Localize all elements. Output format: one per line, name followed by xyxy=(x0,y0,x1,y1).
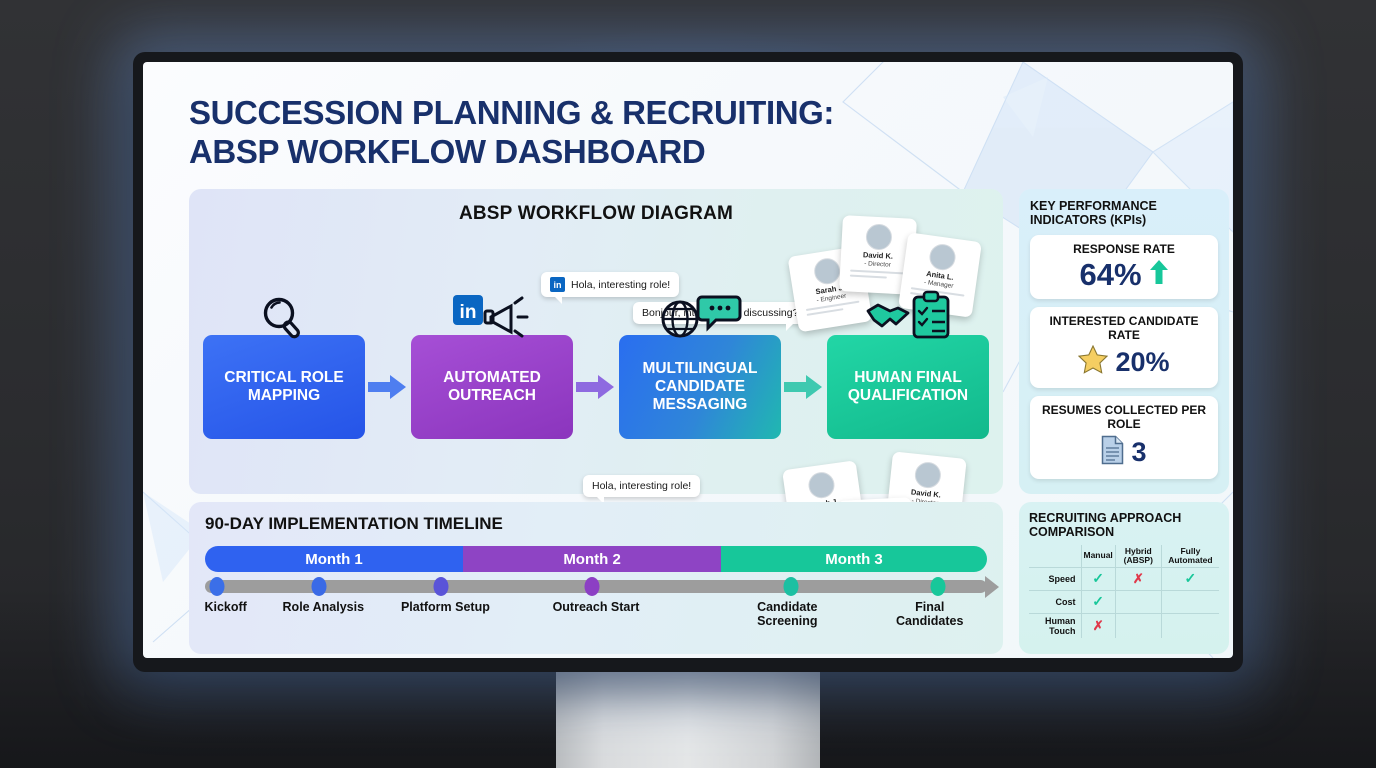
timeline-month-1: Month 1 xyxy=(205,546,463,572)
kpi-value: 3 xyxy=(1131,439,1146,466)
divider xyxy=(850,275,887,279)
row-header-cost: Cost xyxy=(1029,591,1081,614)
magnifier-icon xyxy=(258,295,310,346)
page-title: SUCCESSION PLANNING & RECRUITING: ABSP W… xyxy=(189,94,1029,171)
avatar xyxy=(914,461,943,490)
cross-icon: ✗ xyxy=(1093,618,1104,633)
corner-cell xyxy=(1029,545,1081,568)
kpi-value: 64% xyxy=(1079,259,1141,290)
timeline-milestone-dot[interactable] xyxy=(210,577,225,596)
comparison-panel: RECRUITING APPROACH COMPARISON Manual Hy… xyxy=(1019,502,1229,654)
comparison-heading: RECRUITING APPROACH COMPARISON xyxy=(1029,511,1219,540)
timeline-milestone-dot[interactable] xyxy=(584,577,599,596)
kpi-label: INTERESTED CANDIDATE RATE xyxy=(1036,314,1212,342)
kpi-card-interested-candidate-rate: INTERESTED CANDIDATE RATE 20% xyxy=(1030,307,1218,388)
timeline-month-2: Month 2 xyxy=(463,546,721,572)
cell-human-hybrid xyxy=(1115,614,1161,639)
cell-speed-hybrid: ✗ xyxy=(1115,568,1161,591)
kpi-value-row: 3 xyxy=(1036,435,1212,470)
timeline-month-label: Month 1 xyxy=(305,551,363,568)
kpi-value-row: 64% xyxy=(1036,259,1212,290)
timeline-milestone-dot[interactable] xyxy=(784,577,799,596)
avatar xyxy=(928,242,957,271)
kpi-value-row: 20% xyxy=(1036,345,1212,379)
workflow-step-multilingual-candidate-messaging[interactable]: MULTILINGUAL CANDIDATE MESSAGING xyxy=(619,335,781,439)
column-header-fully-automated: Fully Automated xyxy=(1161,545,1219,568)
linkedin-icon: in xyxy=(550,277,565,292)
workflow-step-automated-outreach[interactable]: in AUTOMATED OUTREACH xyxy=(411,335,573,439)
table-row: Cost ✓ xyxy=(1029,591,1219,614)
cell-cost-hybrid xyxy=(1115,591,1161,614)
cell-speed-fully: ✓ xyxy=(1161,568,1219,591)
row-header-speed: Speed xyxy=(1029,568,1081,591)
kpi-label: RESPONSE RATE xyxy=(1036,242,1212,256)
workflow-step-label: HUMAN FINAL QUALIFICATION xyxy=(833,369,983,406)
cell-cost-manual: ✓ xyxy=(1081,591,1115,614)
timeline-milestone-label: Kickoff xyxy=(178,600,274,614)
timeline-milestone-label: Role Analysis xyxy=(275,600,371,614)
workflow-step-label: CRITICAL ROLE MAPPING xyxy=(209,369,359,406)
handshake-clipboard-icon xyxy=(864,289,952,346)
screen: SUCCESSION PLANNING & RECRUITING: ABSP W… xyxy=(143,62,1233,658)
avatar xyxy=(865,223,892,250)
table-row: Human Touch ✗ xyxy=(1029,614,1219,639)
workflow-arrow-2 xyxy=(573,335,619,439)
avatar xyxy=(807,470,836,499)
timeline-milestone-dot[interactable] xyxy=(312,577,327,596)
chat-bubble-1-text: Hola, interesting role! xyxy=(571,279,670,291)
workflow-arrow-3 xyxy=(781,335,827,439)
timeline-milestone-label: Candidate Screening xyxy=(739,600,835,629)
workflow-step-label: AUTOMATED OUTREACH xyxy=(417,369,567,406)
divider xyxy=(850,270,904,275)
table-row: Speed ✓ ✗ ✓ xyxy=(1029,568,1219,591)
cell-cost-fully xyxy=(1161,591,1219,614)
star-icon xyxy=(1078,345,1108,379)
workflow-step-label: MULTILINGUAL CANDIDATE MESSAGING xyxy=(625,360,775,415)
chat-bubble-3-text: Hola, interesting role! xyxy=(592,480,691,492)
kpi-card-response-rate: RESPONSE RATE 64% xyxy=(1030,235,1218,299)
timeline-heading: 90-DAY IMPLEMENTATION TIMELINE xyxy=(205,514,503,534)
monitor-stand xyxy=(556,672,820,768)
kpi-panel: KEY PERFORMANCE INDICATORS (KPIs) RESPON… xyxy=(1019,189,1229,494)
check-icon: ✓ xyxy=(1092,570,1104,586)
timeline-panel: 90-DAY IMPLEMENTATION TIMELINE Month 1 M… xyxy=(189,502,1003,654)
timeline-month-label: Month 3 xyxy=(825,551,883,568)
chat-bubble-3: Hola, interesting role! xyxy=(583,475,700,497)
timeline-milestone-dot[interactable] xyxy=(930,577,945,596)
timeline-milestone-label: Outreach Start xyxy=(548,600,644,614)
timeline-months: Month 1 Month 2 Month 3 xyxy=(205,546,987,572)
page-title-line1: SUCCESSION PLANNING & RECRUITING: xyxy=(189,94,1029,133)
column-header-manual: Manual xyxy=(1081,545,1115,568)
cell-human-manual: ✗ xyxy=(1081,614,1115,639)
workflow-step-critical-role-mapping[interactable]: CRITICAL ROLE MAPPING xyxy=(203,335,365,439)
document-icon xyxy=(1101,435,1124,470)
kpi-card-resumes-collected: RESUMES COLLECTED PER ROLE 3 xyxy=(1030,396,1218,478)
megaphone-icon: in xyxy=(449,289,535,346)
row-header-human-touch: Human Touch xyxy=(1029,614,1081,639)
timeline-milestone-dot[interactable] xyxy=(434,577,449,596)
table-header-row: Manual Hybrid (ABSP) Fully Automated xyxy=(1029,545,1219,568)
up-arrow-icon xyxy=(1149,259,1169,290)
timeline-milestone-label: Platform Setup xyxy=(397,600,493,614)
kpi-label: RESUMES COLLECTED PER ROLE xyxy=(1036,403,1212,431)
timeline-milestone-label: Final Candidates xyxy=(882,600,978,629)
page-title-line2: ABSP WORKFLOW DASHBOARD xyxy=(189,133,1029,172)
workflow-panel: ABSP WORKFLOW DIAGRAM in Hola, interesti… xyxy=(189,189,1003,494)
svg-text:in: in xyxy=(460,302,477,323)
cross-icon: ✗ xyxy=(1133,571,1144,586)
monitor-frame: SUCCESSION PLANNING & RECRUITING: ABSP W… xyxy=(133,52,1243,672)
timeline-month-3: Month 3 xyxy=(721,546,987,572)
comparison-table: Manual Hybrid (ABSP) Fully Automated Spe… xyxy=(1029,545,1219,639)
workflow-arrow-1 xyxy=(365,335,411,439)
cell-speed-manual: ✓ xyxy=(1081,568,1115,591)
cell-human-fully xyxy=(1161,614,1219,639)
column-header-hybrid: Hybrid (ABSP) xyxy=(1115,545,1161,568)
workflow-step-human-final-qualification[interactable]: HUMAN FINAL QUALIFICATION xyxy=(827,335,989,439)
globe-chat-icon xyxy=(658,291,742,348)
avatar xyxy=(812,256,842,286)
check-icon: ✓ xyxy=(1092,593,1104,609)
workflow-steps: CRITICAL ROLE MAPPING in AUTOMATED OUTRE… xyxy=(203,335,989,439)
kpi-value: 20% xyxy=(1115,349,1169,376)
check-icon: ✓ xyxy=(1185,570,1197,586)
timeline-month-label: Month 2 xyxy=(563,551,621,568)
kpi-heading: KEY PERFORMANCE INDICATORS (KPIs) xyxy=(1030,199,1218,228)
